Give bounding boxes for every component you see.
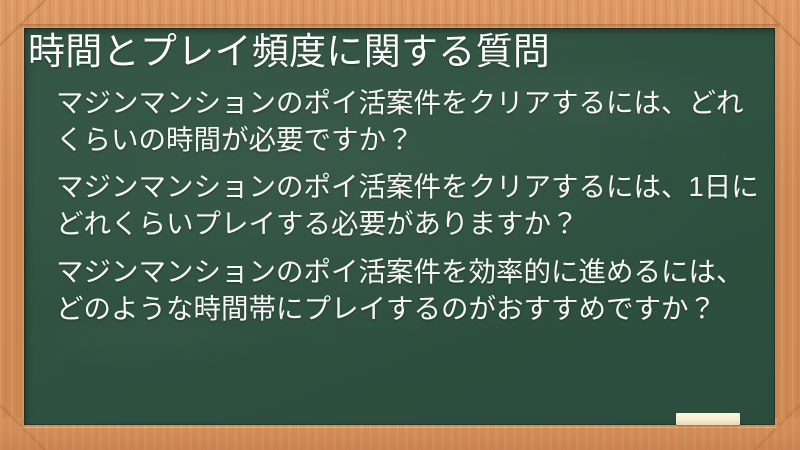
blackboard-slide: 時間とプレイ頻度に関する質問 マジンマンションのポイ活案件をクリアするには、どれ… bbox=[0, 0, 800, 450]
list-item: マジンマンションのポイ活案件をクリアするには、1日にどれくらいプレイする必要があ… bbox=[56, 168, 761, 243]
slide-content: 時間とプレイ頻度に関する質問 マジンマンションのポイ活案件をクリアするには、どれ… bbox=[24, 28, 775, 450]
list-item: マジンマンションのポイ活案件をクリアするには、どれくらいの時間が必要ですか？ bbox=[56, 84, 761, 159]
list-item: マジンマンションのポイ活案件を効率的に進めるには、どのような時間帯にプレイするの… bbox=[56, 253, 761, 328]
question-list: マジンマンションのポイ活案件をクリアするには、どれくらいの時間が必要ですか？ マ… bbox=[24, 84, 775, 328]
chalk-icon bbox=[676, 413, 740, 425]
page-title: 時間とプレイ頻度に関する質問 bbox=[24, 28, 775, 74]
